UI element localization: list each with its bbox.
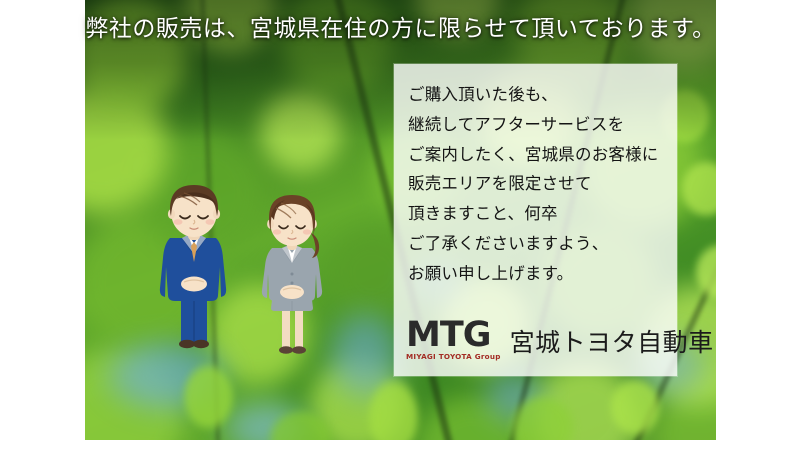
notice-text-block: ご購入頂いた後も、 継続してアフターサービスを ご案内したく、宮城県のお客様に … [408,80,669,289]
page-title: 弊社の販売は、宮城県在住の方に限らせて頂いております。 [85,14,716,44]
bowing-businesswoman-illustration [248,184,336,360]
notice-panel: ご購入頂いた後も、 継続してアフターサービスを ご案内したく、宮城県のお客様に … [394,64,677,376]
notice-line: 頂きますこと、何卒 [408,199,669,229]
company-name-text: 宮城トヨタ自動車 [510,330,714,360]
notice-line: ご案内したく、宮城県のお客様に [408,140,669,170]
notice-line: 販売エリアを限定させて [408,169,669,199]
logo-mark-block: MTG MIYAGI TOYOTA Group [406,319,501,360]
logo-subtitle-text: MIYAGI TOYOTA Group [406,353,501,360]
bowing-businessman-illustration [148,172,240,352]
logo-mtg-text: MTG [406,319,490,351]
notice-line: 継続してアフターサービスを [408,110,669,140]
businesswoman-svg [248,184,336,360]
notice-line: ご了承くださいますよう、 [408,229,669,259]
notice-line: お願い申し上げます。 [408,259,669,289]
slide-canvas: 弊社の販売は、宮城県在住の方に限らせて頂いております。 [0,0,800,450]
company-logo: MTG MIYAGI TOYOTA Group 宮城トヨタ自動車 [406,319,714,360]
businessman-svg [148,172,240,352]
notice-line: ご購入頂いた後も、 [408,80,669,110]
